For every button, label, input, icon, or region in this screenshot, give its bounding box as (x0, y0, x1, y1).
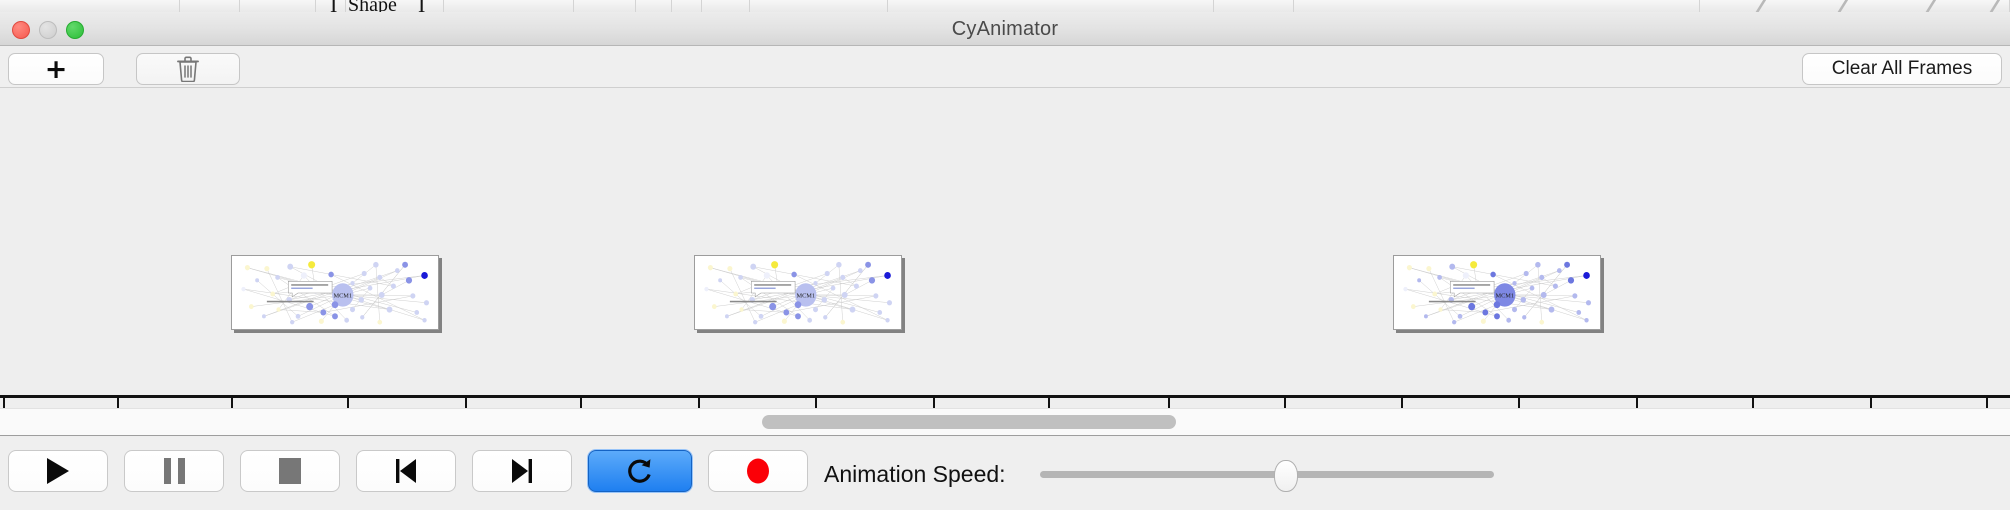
window-titlebar: CyAnimator (0, 12, 2010, 46)
axis-tick-11 (1284, 398, 1286, 408)
axis-tick-13 (1518, 398, 1520, 408)
plus-icon: + (45, 56, 68, 83)
timeline-panel[interactable]: MCM1MCM1MCM1 2131415161718 Seconds (0, 88, 2010, 408)
clear-all-frames-button[interactable]: Clear All Frames (1802, 53, 2002, 85)
skip-start-button[interactable] (356, 450, 456, 492)
axis-tick-12 (1401, 398, 1403, 408)
background-shape-label: Shape (348, 0, 397, 12)
background-panel-2 (240, 0, 316, 12)
timeline-frame-thumbnail[interactable]: MCM1 (694, 255, 902, 330)
loop-icon (625, 456, 655, 486)
background-panel-0 (0, 0, 180, 12)
network-thumbnail-graph: MCM1 (232, 256, 438, 329)
play-icon (47, 458, 69, 484)
transport-bar: Animation Speed: (0, 437, 2010, 510)
axis-tick-2 (231, 398, 233, 408)
skip-back-icon (391, 457, 421, 485)
animation-speed-slider[interactable] (1040, 471, 1494, 478)
network-thumbnail-graph: MCM1 (1394, 256, 1600, 329)
background-panel-5 (444, 0, 574, 12)
axis-tick-4 (465, 398, 467, 408)
axis-tick-17 (1986, 398, 1988, 408)
stop-icon (279, 458, 301, 484)
timeline-frame-thumbnail[interactable]: MCM1 (1393, 255, 1601, 330)
timeline-scrollbar-track[interactable] (0, 408, 2010, 436)
svg-text:MCM1: MCM1 (1495, 292, 1514, 299)
axis-tick-15 (1752, 398, 1754, 408)
background-glyph-0: I (330, 0, 337, 12)
axis-tick-3 (347, 398, 349, 408)
cyanimator-window: II Shape CyAnimator + Clear All Frames M… (0, 0, 2010, 510)
stop-button[interactable] (240, 450, 340, 492)
network-thumbnail-graph: MCM1 (695, 256, 901, 329)
svg-text:MCM1: MCM1 (796, 292, 815, 299)
axis-tick-6 (698, 398, 700, 408)
timeline-scrollbar-thumb[interactable] (762, 415, 1176, 429)
timeline-frame-thumbnail[interactable]: MCM1 (231, 255, 439, 330)
axis-tick-16 (1870, 398, 1872, 408)
background-panel-12 (1214, 0, 1294, 12)
background-panel-7 (636, 0, 672, 12)
axis-tick-8 (933, 398, 935, 408)
svg-text:MCM1: MCM1 (333, 292, 352, 299)
axis-tick-14 (1636, 398, 1638, 408)
background-panel-1 (180, 0, 240, 12)
axis-tick-7 (815, 398, 817, 408)
background-panel-11 (888, 0, 1214, 12)
animation-speed-slider-thumb[interactable] (1274, 460, 1298, 492)
window-title: CyAnimator (0, 12, 2010, 46)
add-frame-button[interactable]: + (8, 53, 104, 85)
background-panel-8 (672, 0, 702, 12)
animation-speed-label: Animation Speed: (824, 461, 1006, 488)
skip-forward-icon (507, 457, 537, 485)
axis-tick-5 (580, 398, 582, 408)
background-panel-10 (750, 0, 888, 12)
record-icon (744, 456, 772, 486)
loop-button[interactable] (588, 450, 692, 492)
pause-button[interactable] (124, 450, 224, 492)
pause-icon (164, 458, 185, 484)
axis-tick-10 (1168, 398, 1170, 408)
play-button[interactable] (8, 450, 108, 492)
background-panel-13 (1294, 0, 1700, 12)
timeline-axis-line (0, 395, 2010, 398)
clear-all-frames-label: Clear All Frames (1832, 58, 1972, 80)
delete-frame-button[interactable] (136, 53, 240, 85)
background-glyph-1: I (418, 0, 425, 12)
background-panel-9 (702, 0, 750, 12)
axis-tick-0 (3, 398, 5, 408)
frame-toolbar: + Clear All Frames (0, 46, 2010, 88)
skip-end-button[interactable] (472, 450, 572, 492)
axis-tick-1 (117, 398, 119, 408)
background-desktop-strip: II Shape (0, 0, 2010, 12)
axis-tick-9 (1048, 398, 1050, 408)
background-panel-6 (574, 0, 636, 12)
trash-icon (177, 56, 199, 82)
record-button[interactable] (708, 450, 808, 492)
